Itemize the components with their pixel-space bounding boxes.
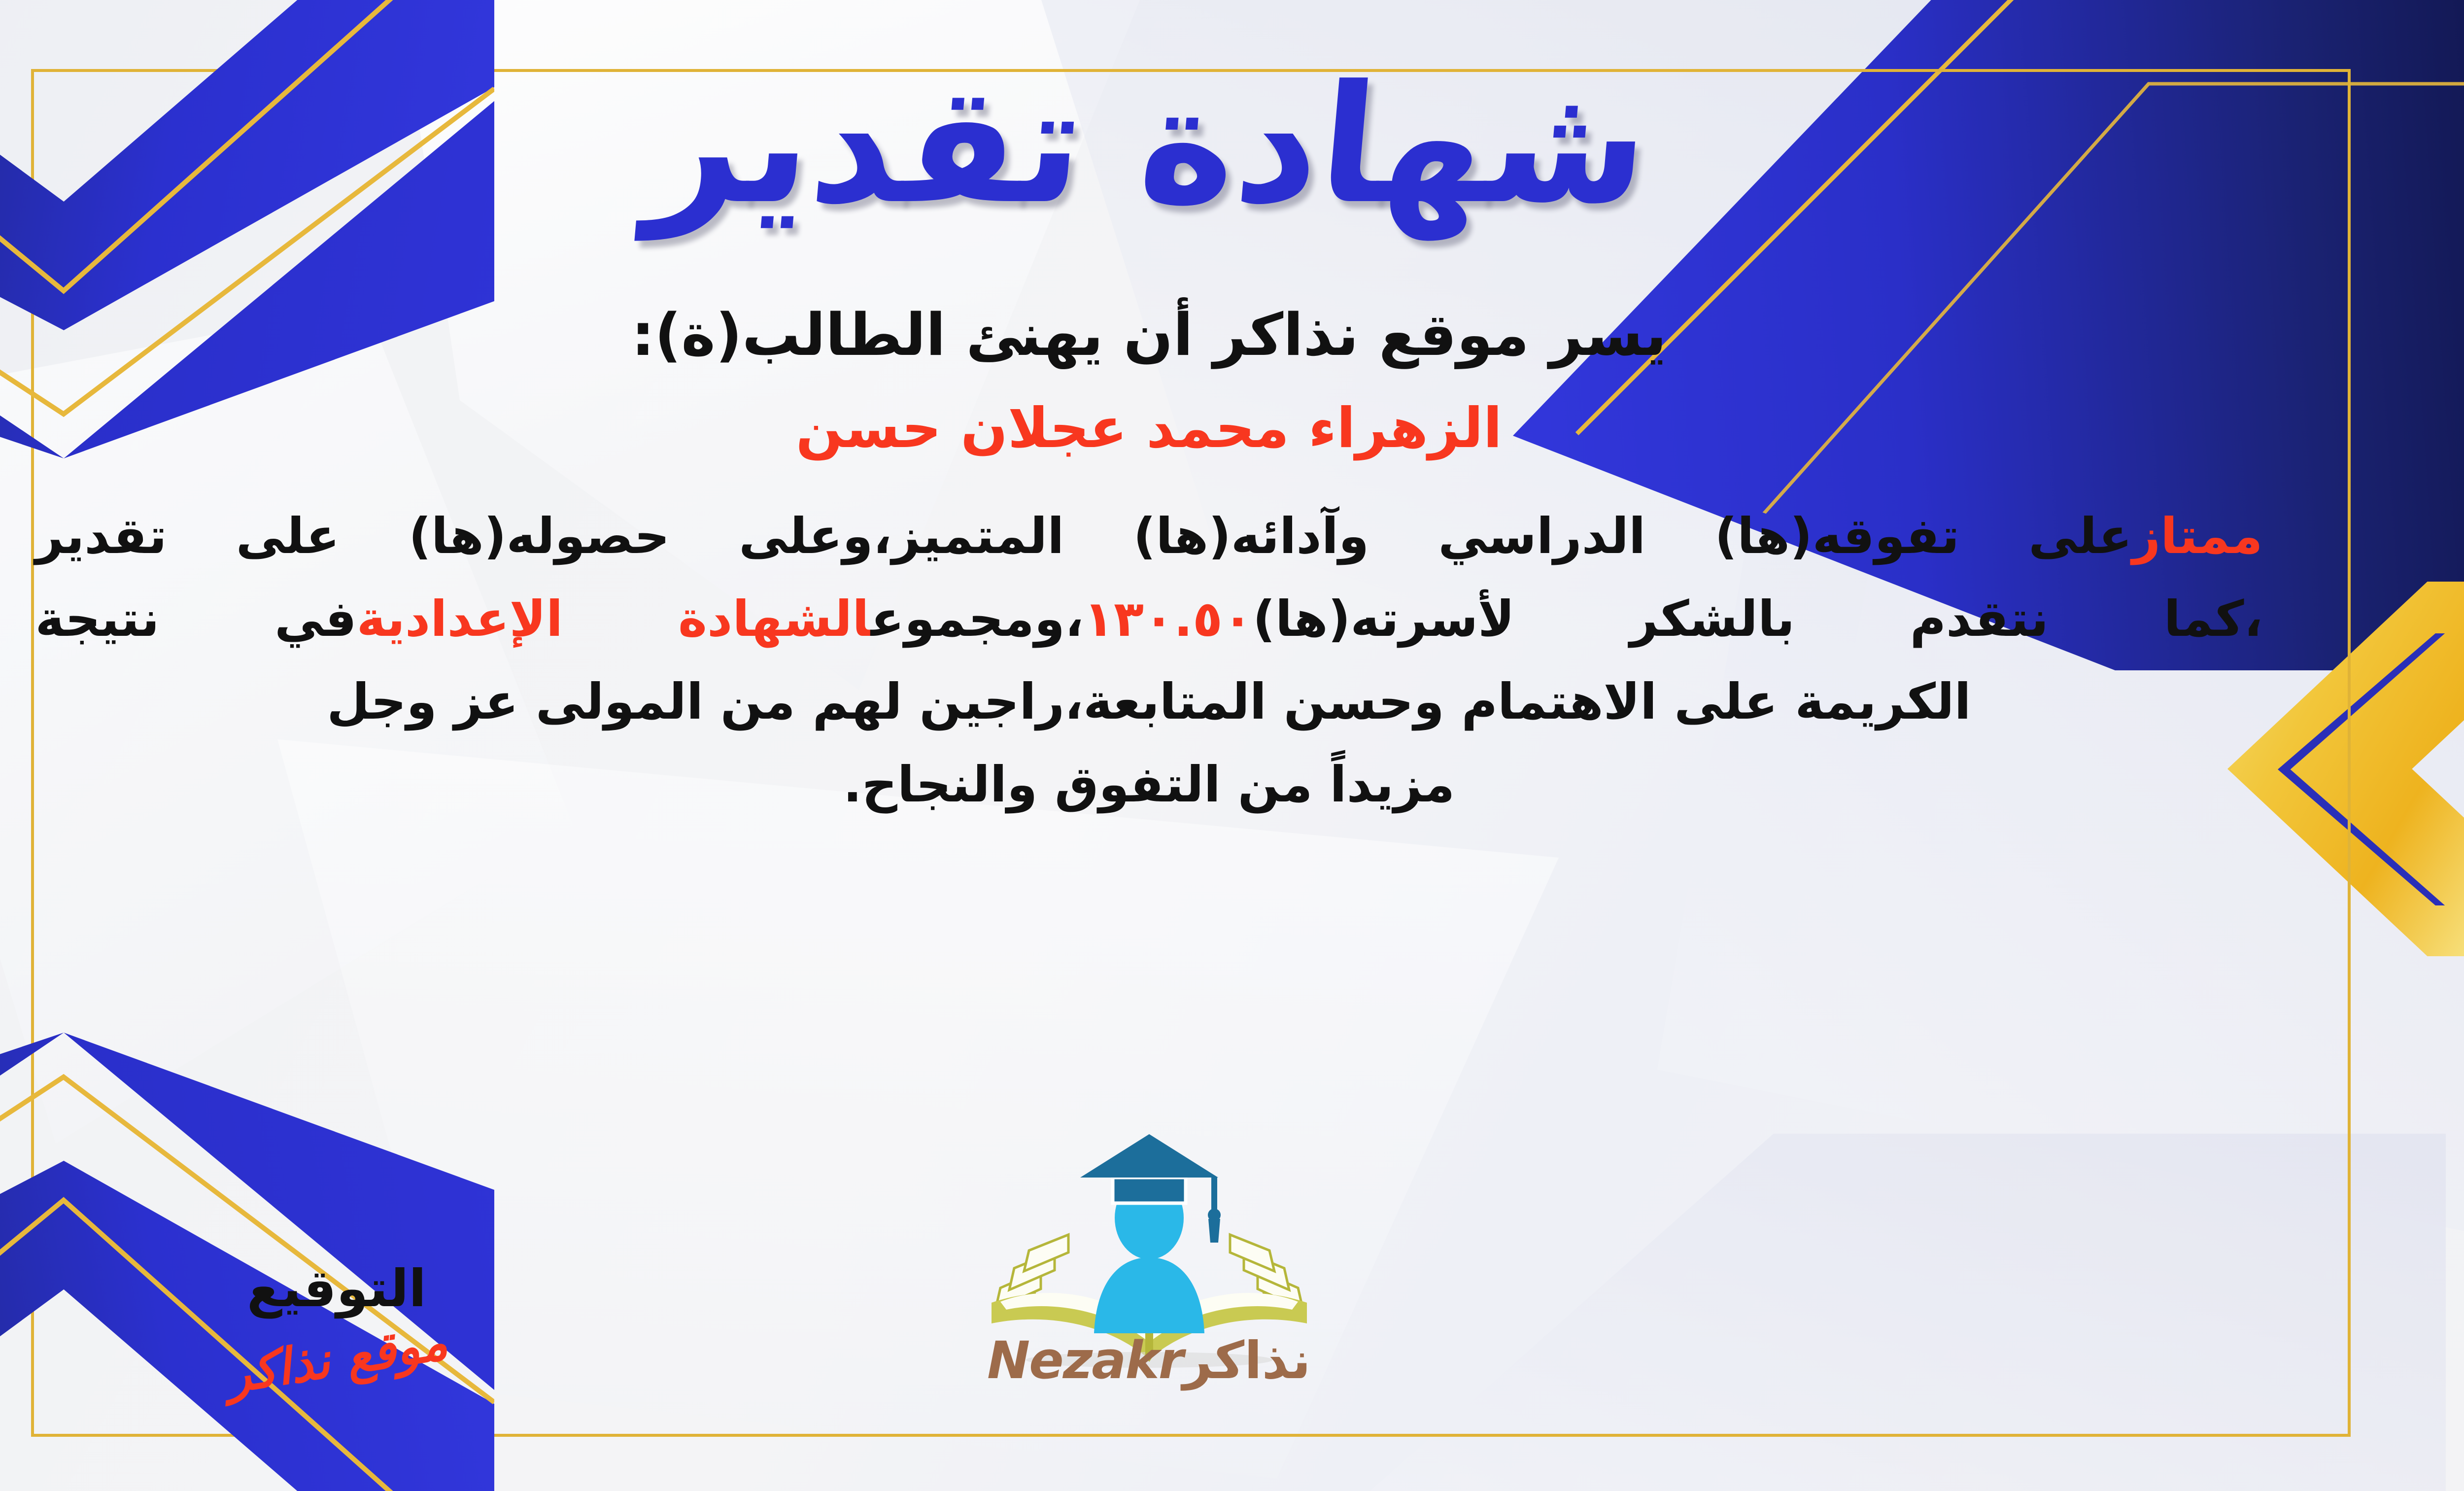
body-line-2-prefix: في نتيجة [35,590,357,648]
certificate-content: شهادة تقدير يسر موقع نذاكر أن يهنئ الطال… [0,0,2464,1491]
certificate-body: ممتازعلى تفوقه(ها) الدراسي وآدائه(ها) ال… [26,495,2273,826]
body-line-2: ،كما نتقدم بالشكر لأسرته(ها)١٣٠.٥٠،ومجمو… [26,578,2273,660]
body-line-2-middle: ،ومجموع [871,590,1084,648]
student-name: الزهراء محمد عجلان حسن [796,396,1502,460]
grade-highlight: ممتاز [2132,507,2263,565]
body-line-3: الكريمة على الاهتمام وحسن المتابعة،راجين… [26,660,2273,743]
certificate-canvas: شهادة تقدير يسر موقع نذاكر أن يهنئ الطال… [0,0,2464,1491]
page-title: شهادة تقدير [642,54,1656,237]
body-line-1-text: على تفوقه(ها) الدراسي وآدائه(ها) المتميز… [35,507,2132,565]
body-line-1: ممتازعلى تفوقه(ها) الدراسي وآدائه(ها) ال… [26,495,2273,578]
body-line-4: مزيداً من التفوق والنجاح. [26,743,2273,826]
congratulation-line: يسر موقع نذاكر أن يهنئ الطالب(ة): [631,301,1667,369]
exam-highlight: الشهادة الإعدادية [357,590,871,648]
score-highlight: ١٣٠.٥٠ [1084,590,1253,648]
body-line-2-suffix: ،كما نتقدم بالشكر لأسرته(ها) [1253,590,2262,648]
